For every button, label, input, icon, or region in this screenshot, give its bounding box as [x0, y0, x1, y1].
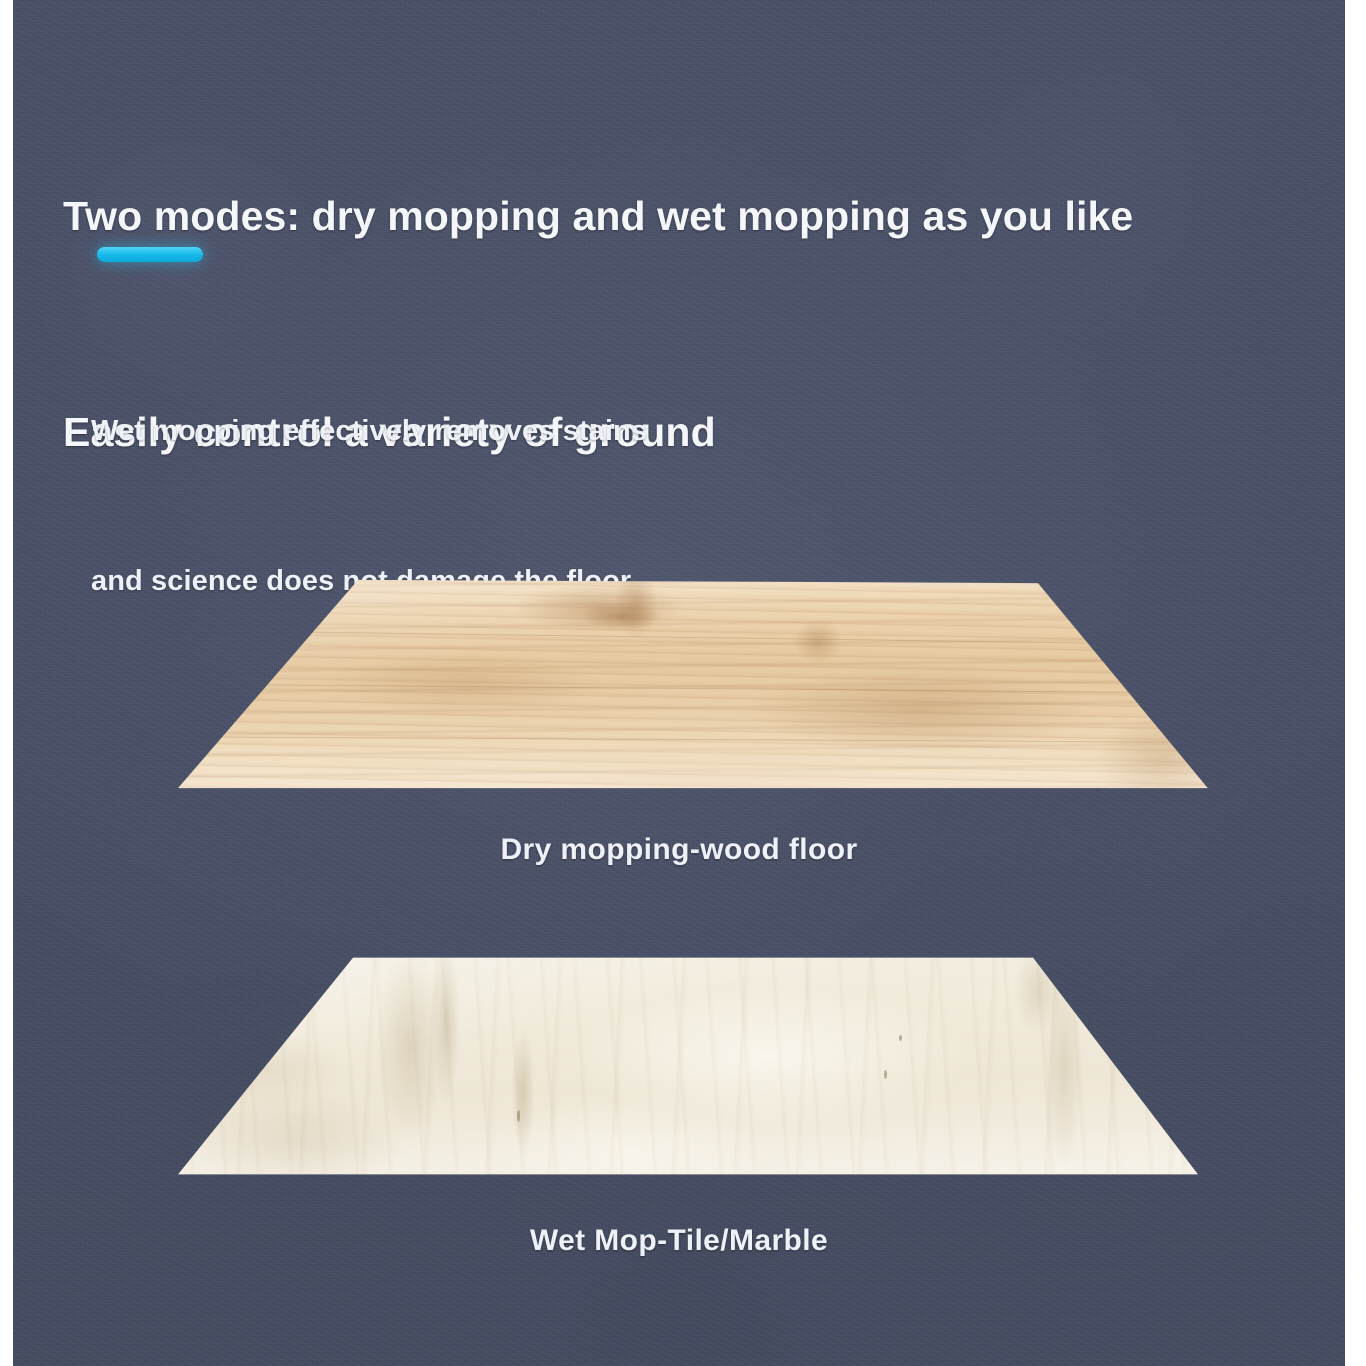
marble-streak-texture [173, 955, 1203, 1177]
marble-tile-panel [173, 955, 1203, 1177]
subcopy-line-1: Wet mopping effectively removes stains [91, 406, 951, 456]
headline-line-1: Two modes: dry mopping and wet mopping a… [63, 180, 1313, 252]
marble-fleck [884, 1070, 887, 1079]
wood-floor-caption: Dry mopping-wood floor [13, 833, 1345, 867]
product-feature-image: Two modes: dry mopping and wet mopping a… [0, 0, 1366, 1366]
image-canvas: Two modes: dry mopping and wet mopping a… [13, 0, 1345, 1366]
accent-bar-icon [97, 247, 203, 262]
marble-tile-caption: Wet Mop-Tile/Marble [13, 1224, 1345, 1258]
